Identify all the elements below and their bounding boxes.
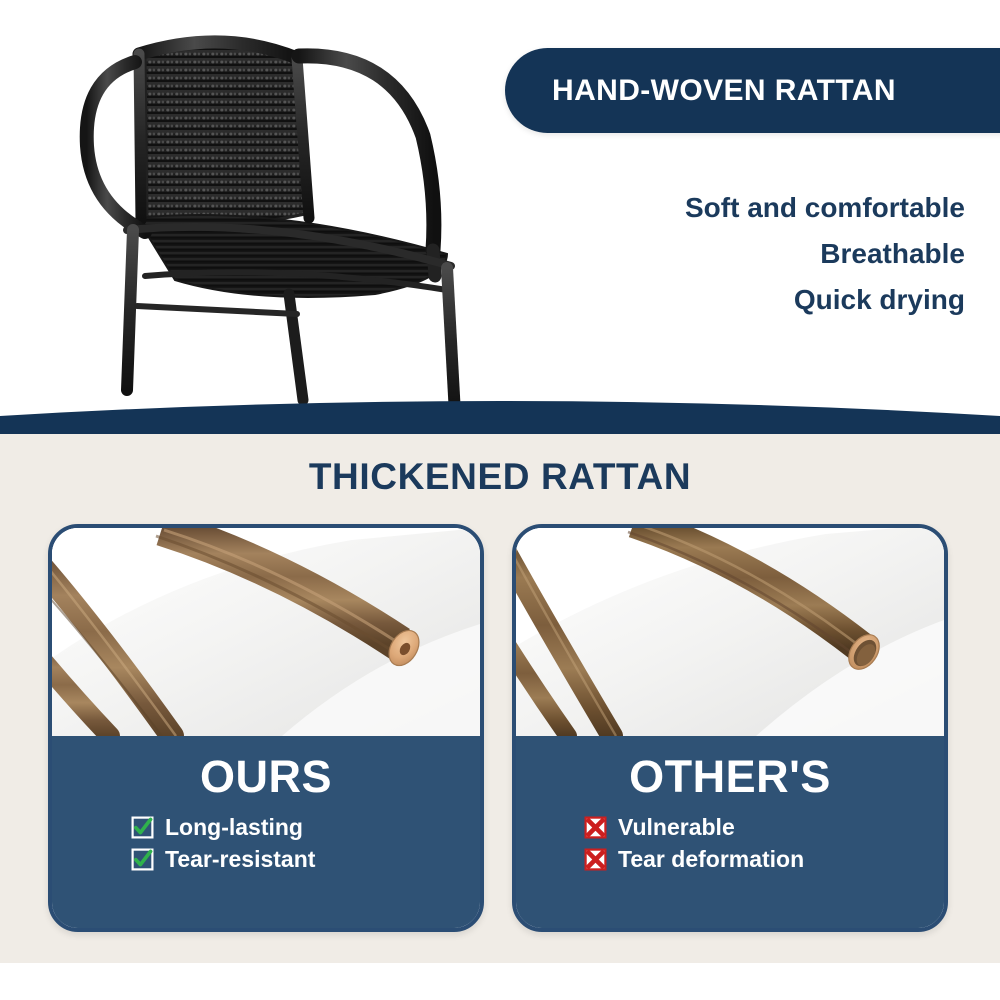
section-title: THICKENED RATTAN [0,456,1000,498]
headline-banner: HAND-WOVEN RATTAN [505,48,1000,133]
thin-rattan-tube-icon [516,528,944,736]
check-icon [131,816,154,839]
bottom-white-strip [0,963,1000,1000]
feature-bullet: Quick drying [540,277,965,323]
feature-item: Vulnerable [584,814,876,841]
cross-icon [584,816,607,839]
feature-label: Long-lasting [165,814,303,841]
infographic-canvas: HAND-WOVEN RATTAN Soft and comfortable B… [0,0,1000,1000]
banner-title: HAND-WOVEN RATTAN [552,74,896,108]
thick-rattan-cord-icon [52,528,480,736]
feature-label: Vulnerable [618,814,735,841]
bottom-section: THICKENED RATTAN [0,434,1000,963]
card-footer-others: OTHER'S Vulnerable [516,736,944,932]
card-label: OTHER'S [516,750,944,804]
feature-item: Tear deformation [584,846,876,873]
feature-list-ours: Long-lasting Tear-resistant [52,814,480,878]
feature-item: Long-lasting [131,814,401,841]
cross-icon [584,848,607,871]
top-section: HAND-WOVEN RATTAN Soft and comfortable B… [0,0,1000,432]
feature-bullet: Soft and comfortable [540,185,965,231]
card-footer-ours: OURS Long-lasting [52,736,480,932]
comparison-card-others: OTHER'S Vulnerable [512,524,948,932]
card-label: OURS [52,750,480,804]
feature-item: Tear-resistant [131,846,401,873]
comparison-card-ours: OURS Long-lasting [48,524,484,932]
feature-list-others: Vulnerable Tear deformation [516,814,944,878]
check-icon [131,848,154,871]
chair-icon [75,18,495,432]
feature-bullet: Breathable [540,231,965,277]
feature-bullets: Soft and comfortable Breathable Quick dr… [540,185,965,323]
feature-label: Tear-resistant [165,846,315,873]
feature-label: Tear deformation [618,846,804,873]
